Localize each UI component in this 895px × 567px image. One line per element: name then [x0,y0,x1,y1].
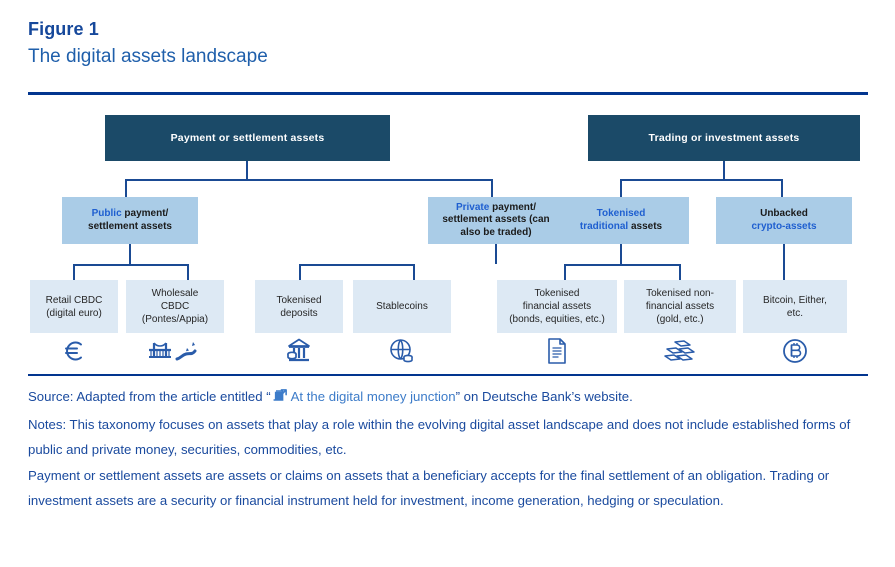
node-label: Tokenised financial assets (bonds, equit… [503,287,611,326]
icon-cell-bitcoin [743,336,847,366]
node-label-rest: payment/ [489,202,536,213]
connector-retail-leg [73,264,75,280]
node-label-line2: crypto-assets [751,221,816,232]
globe-coins-icon [388,337,416,365]
connector-payment-trunk [246,161,248,179]
notes-divider [28,374,868,376]
node-tokenised-non-financial-assets[interactable]: Tokenised non- financial assets (gold, e… [624,280,736,333]
node-retail-cbdc[interactable]: Retail CBDC (digital euro) [30,280,118,333]
connector-public-leg [125,179,127,197]
document-icon [545,337,569,365]
node-label-line2: CBDC [161,301,189,312]
node-label: Bitcoin, Either, etc. [757,294,833,320]
node-label-line1: Tokenised non- [646,288,714,299]
connector-tokenised-traditional-leg [620,179,622,197]
icon-cell-stablecoins [353,336,451,366]
node-label-line1: Bitcoin, Either, [763,295,827,306]
source-prefix: Source: Adapted from the article entitle… [28,389,271,404]
node-label-highlight: Private [456,202,489,213]
connector-public-bracket [73,264,189,266]
bitcoin-icon [781,337,809,365]
icon-cell-tokenised-deposits [255,336,343,366]
figure-number: Figure 1 [28,18,868,40]
node-label-line3: (bonds, equities, etc.) [509,314,605,325]
connector-unbacked-leg [781,179,783,197]
connector-unbacked-to-bitcoin [783,244,785,280]
node-label-line2: (digital euro) [46,308,102,319]
node-label: Tokenised traditional assets [574,208,668,233]
node-label: Unbacked crypto-assets [745,208,822,233]
connector-stablecoins-leg [413,264,415,280]
node-label-line1: Wholesale [152,288,199,299]
node-label: Payment or settlement assets [165,132,331,145]
bank-coins-icon [285,337,313,365]
connector-tokenised-non-financial-leg [679,264,681,280]
node-label-line1: Tokenised [276,295,321,306]
node-label-line2: financial assets [646,301,714,312]
node-label-line2: settlement assets [88,221,172,232]
node-label-line2: etc. [787,308,803,319]
figure-header: Figure 1 The digital assets landscape [28,18,868,70]
node-public-payment-settlement-assets[interactable]: Public payment/ settlement assets [62,197,198,244]
connector-trading-trunk [723,161,725,179]
node-payment-or-settlement-assets[interactable]: Payment or settlement assets [105,115,390,161]
node-wholesale-cbdc[interactable]: Wholesale CBDC (Pontes/Appia) [126,280,224,333]
notes-paragraph-2: Payment or settlement assets are assets … [28,463,870,514]
node-label-line3: (gold, etc.) [656,314,703,325]
digital-assets-diagram: Payment or settlement assets Public paym… [0,100,895,375]
node-tokenised-deposits[interactable]: Tokenised deposits [255,280,343,333]
connector-tokenised-traditional-trunk [620,244,622,264]
node-label: Tokenised deposits [270,294,327,320]
node-label: Public payment/ settlement assets [82,208,178,233]
node-label-line1: Retail CBDC [46,295,103,306]
node-label-rest: assets [628,221,662,232]
node-label-line2: settlement assets (can [442,214,549,225]
header-divider [28,92,868,95]
node-label-line1: Tokenised [534,288,579,299]
connector-public-trunk [129,244,131,264]
node-bitcoin-ether[interactable]: Bitcoin, Either, etc. [743,280,847,333]
source-suffix: ” on Deutsche Bank’s website. [456,389,633,404]
source-line: Source: Adapted from the article entitle… [28,384,870,412]
node-label-line1: Unbacked [760,208,808,219]
icon-cell-wholesale-cbdc [126,336,224,366]
node-label: Tokenised non- financial assets (gold, e… [640,287,720,326]
node-label-highlight-line2: traditional [580,221,628,232]
node-label-line3: also be traded) [460,227,531,238]
connector-tokenised-deposits-leg [299,264,301,280]
external-link-icon[interactable] [273,386,288,412]
connector-private-bracket [299,264,415,266]
node-label-rest: payment/ [122,208,169,219]
icon-cell-retail-cbdc [30,336,118,366]
node-label-highlight: Public [92,208,122,219]
node-label: Retail CBDC (digital euro) [40,294,109,320]
connector-wholesale-leg [187,264,189,280]
connector-private-trunk [495,244,497,264]
node-tokenised-financial-assets[interactable]: Tokenised financial assets (bonds, equit… [497,280,617,333]
node-label-line2: deposits [280,308,317,319]
euro-icon [61,338,87,364]
source-link[interactable]: At the digital money junction [291,389,456,404]
node-tokenised-traditional-assets[interactable]: Tokenised traditional assets [553,197,689,244]
node-trading-or-investment-assets[interactable]: Trading or investment assets [588,115,860,161]
connector-tokenised-traditional-bracket [564,264,681,266]
node-label-line2: financial assets [523,301,591,312]
bridge-road-icon [147,338,203,364]
node-unbacked-crypto-assets[interactable]: Unbacked crypto-assets [716,197,852,244]
notes-block: Source: Adapted from the article entitle… [28,384,870,514]
connector-payment-bracket [125,179,493,181]
notes-paragraph-1: Notes: This taxonomy focuses on assets t… [28,412,870,463]
node-label: Trading or investment assets [643,132,806,145]
gold-bars-icon [663,338,697,364]
node-label: Stablecoins [370,300,434,313]
node-stablecoins[interactable]: Stablecoins [353,280,451,333]
figure-title: The digital assets landscape [28,44,868,70]
connector-trading-bracket [620,179,783,181]
icon-cell-tokenised-financial [497,336,617,366]
node-label: Private payment/ settlement assets (can … [436,202,555,240]
node-label-line3: (Pontes/Appia) [142,314,208,325]
connector-tokenised-financial-leg [564,264,566,280]
node-private-payment-settlement-assets[interactable]: Private payment/ settlement assets (can … [428,197,564,244]
icon-cell-tokenised-non-financial [624,336,736,366]
connector-private-leg [491,179,493,197]
node-label-highlight-line1: Tokenised [597,208,646,219]
node-label: Wholesale CBDC (Pontes/Appia) [136,287,214,326]
